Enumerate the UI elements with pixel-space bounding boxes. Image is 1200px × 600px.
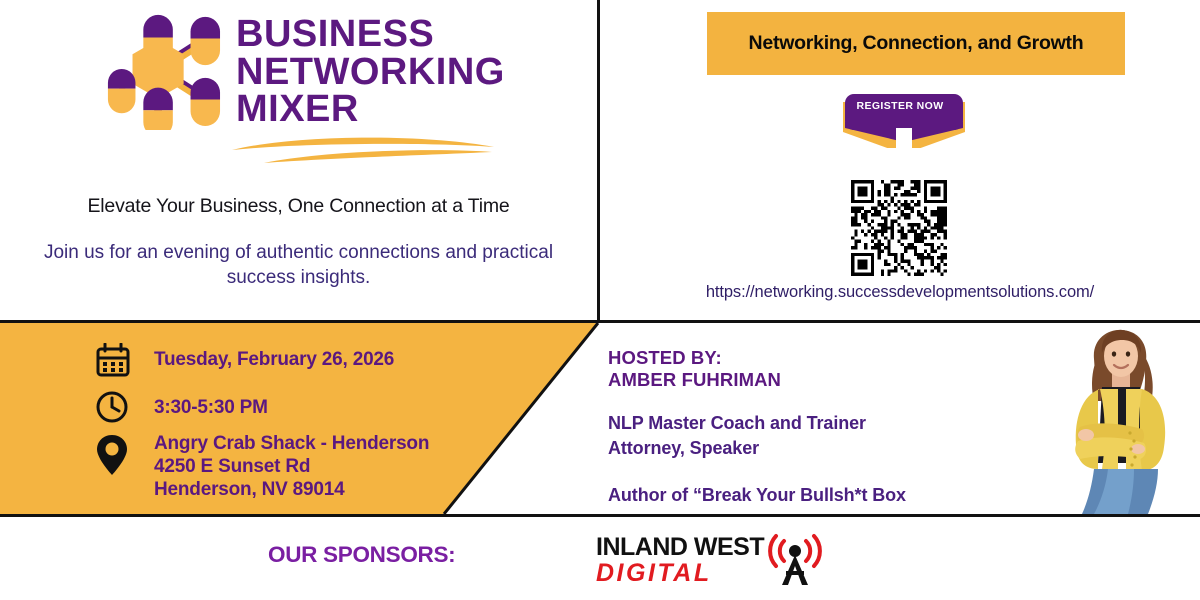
sponsors-label: OUR SPONSORS:	[268, 542, 455, 568]
brand-wordmark: BUSINESS NETWORKING MIXER	[236, 8, 505, 129]
event-details-panel: Tuesday, February 26, 2026 3:30-5:30 PM …	[0, 323, 600, 514]
register-now-button[interactable]: REGISTER NOW	[839, 92, 969, 166]
sponsor-logo-inland-west-digital[interactable]: INLAND WEST DIGITAL	[596, 533, 828, 589]
host-role-line-2: Attorney, Speaker	[608, 436, 906, 461]
branding-panel: BUSINESS NETWORKING MIXER Elevate Your B…	[0, 0, 597, 320]
event-venue: Angry Crab Shack - Henderson 4250 E Suns…	[154, 433, 429, 501]
inland-west-digital-wordmark: INLAND WEST DIGITAL	[596, 535, 764, 587]
host-portrait-illustration	[1042, 323, 1192, 514]
location-pin-icon	[96, 433, 128, 477]
hosted-by-label: HOSTED BY:	[608, 347, 906, 369]
venue-city: Henderson, NV 89014	[154, 479, 429, 502]
headline-text: Networking, Connection, and Growth	[749, 32, 1084, 55]
wordmark-line-3: MIXER	[236, 91, 505, 129]
host-roles: NLP Master Coach and Trainer Attorney, S…	[608, 411, 906, 461]
gold-swoosh-underline-icon	[228, 128, 500, 168]
register-button-label: REGISTER NOW	[839, 100, 961, 112]
promo-panel: Networking, Connection, and Growth REGIS…	[600, 0, 1200, 320]
sponsors-footer: OUR SPONSORS: INLAND WEST DIGITAL	[0, 517, 1200, 600]
detail-row-location: Angry Crab Shack - Henderson 4250 E Suns…	[96, 433, 429, 501]
brand-logo: BUSINESS NETWORKING MIXER	[104, 8, 505, 130]
host-book-title: Author of “Break Your Bullsh*t Box	[608, 483, 906, 508]
venue-street: 4250 E Sunset Rd	[154, 456, 429, 479]
qr-code-icon[interactable]	[851, 180, 947, 276]
host-info: HOSTED BY: AMBER FUHRIMAN NLP Master Coa…	[608, 347, 906, 508]
clock-icon	[96, 391, 128, 423]
detail-row-time: 3:30-5:30 PM	[96, 391, 268, 423]
tagline: Elevate Your Business, One Connection at…	[0, 195, 597, 218]
iwd-line-2: DIGITAL	[596, 560, 764, 587]
host-role-line-1: NLP Master Coach and Trainer	[608, 411, 906, 436]
host-book: Author of “Break Your Bullsh*t Box	[608, 483, 906, 508]
panel-divider-vertical	[597, 0, 600, 322]
calendar-icon	[96, 343, 130, 377]
host-panel: HOSTED BY: AMBER FUHRIMAN NLP Master Coa…	[600, 323, 1200, 514]
event-url-link[interactable]: https://networking.successdevelopmentsol…	[600, 283, 1200, 302]
host-name: AMBER FUHRIMAN	[608, 369, 906, 391]
venue-name: Angry Crab Shack - Henderson	[154, 433, 429, 456]
event-flyer: BUSINESS NETWORKING MIXER Elevate Your B…	[0, 0, 1200, 600]
event-date: Tuesday, February 26, 2026	[154, 343, 394, 372]
host-portrait-photo	[1042, 323, 1192, 514]
event-description: Join us for an evening of authentic conn…	[28, 240, 569, 291]
network-nodes-icon	[104, 8, 222, 130]
wordmark-line-2: NETWORKING	[236, 54, 505, 92]
iwd-line-1: INLAND WEST	[596, 535, 764, 560]
broadcast-tower-icon	[762, 533, 828, 587]
headline-banner: Networking, Connection, and Growth	[707, 12, 1125, 75]
detail-row-date: Tuesday, February 26, 2026	[96, 343, 394, 377]
event-time: 3:30-5:30 PM	[154, 391, 268, 420]
wordmark-line-1: BUSINESS	[236, 16, 505, 54]
